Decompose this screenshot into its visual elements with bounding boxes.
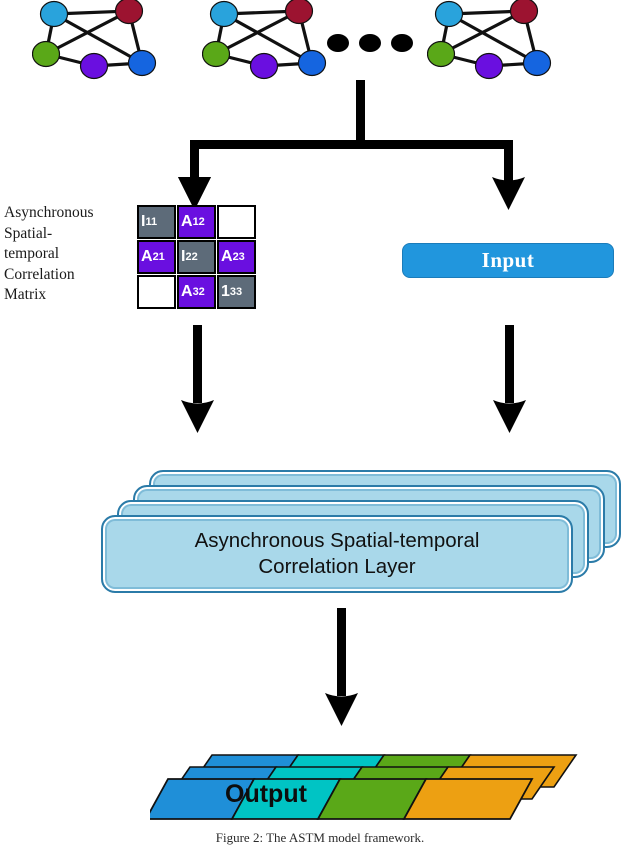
layer-to-output-arrow — [322, 608, 362, 733]
matrix-cell-base: A — [181, 214, 193, 230]
matrix-cell-sub: 12 — [193, 217, 205, 228]
layer-text-line-2: Correlation Layer — [258, 554, 415, 580]
matrix-label: Asynchronous Spatial- temporal Correlati… — [4, 203, 136, 306]
matrix-cell-0-2 — [217, 205, 256, 239]
output-stack — [150, 735, 590, 825]
matrix-cell-1-1: I22 — [177, 240, 216, 274]
output-svg — [150, 735, 590, 825]
matrix-cell-sub: 32 — [193, 287, 205, 298]
matrix-cell-2-1: A32 — [177, 275, 216, 309]
down-arrow-icon — [322, 608, 362, 728]
matrix-cell-0-1: A12 — [177, 205, 216, 239]
matrix-to-layer-arrow — [178, 325, 218, 440]
fork-arrow-svg — [150, 80, 550, 225]
input-box-label: Input — [482, 248, 535, 273]
matrix-cell-0-0: I11 — [137, 205, 176, 239]
matrix-cell-sub: 11 — [145, 217, 157, 228]
matrix-cell-base: 1 — [221, 284, 230, 300]
ellipsis-dots — [325, 28, 415, 58]
matrix-cell-2-0 — [137, 275, 176, 309]
graph-svg-3 — [427, 0, 557, 85]
input-box[interactable]: Input — [402, 243, 614, 278]
graph-svg-2 — [202, 0, 332, 85]
matrix-cell-2-2: 133 — [217, 275, 256, 309]
graph-svg-1 — [32, 0, 162, 85]
figure-container: Asynchronous Spatial- temporal Correlati… — [0, 0, 640, 845]
matrix-cell-sub: 22 — [185, 252, 197, 263]
graph-1 — [32, 0, 162, 85]
down-arrow-icon — [490, 325, 530, 435]
ellipsis-icon — [325, 28, 415, 58]
matrix-label-line-1: Asynchronous — [4, 203, 136, 224]
matrix-cell-1-2: A23 — [217, 240, 256, 274]
input-to-layer-arrow — [490, 325, 530, 440]
matrix-cell-base: A — [141, 249, 153, 265]
output-label: Output — [225, 780, 307, 809]
graph-3 — [427, 0, 557, 85]
matrix-cell-sub: 23 — [233, 252, 245, 263]
matrix-cell-base: A — [181, 284, 193, 300]
down-arrow-icon — [178, 325, 218, 435]
layer-stack-text: Asynchronous Spatial-temporal Correlatio… — [101, 515, 573, 593]
correlation-matrix: I11 A12 A21 I22 A23 A32 133 — [137, 205, 256, 309]
matrix-cell-sub: 33 — [230, 287, 242, 298]
graph-2 — [202, 0, 332, 85]
matrix-cell-base: A — [221, 249, 233, 265]
matrix-label-line-4: Correlation — [4, 265, 136, 286]
matrix-cell-1-0: A21 — [137, 240, 176, 274]
matrix-label-line-2: Spatial- — [4, 224, 136, 245]
output-layer-1 — [150, 779, 532, 819]
matrix-cell-sub: 21 — [153, 252, 165, 263]
matrix-label-line-3: temporal — [4, 244, 136, 265]
layer-stack: Asynchronous Spatial-temporal Correlatio… — [100, 470, 640, 595]
layer-text-line-1: Asynchronous Spatial-temporal — [195, 528, 480, 554]
figure-caption: Figure 2: The ASTM model framework. — [0, 830, 640, 845]
matrix-label-line-5: Matrix — [4, 285, 136, 306]
